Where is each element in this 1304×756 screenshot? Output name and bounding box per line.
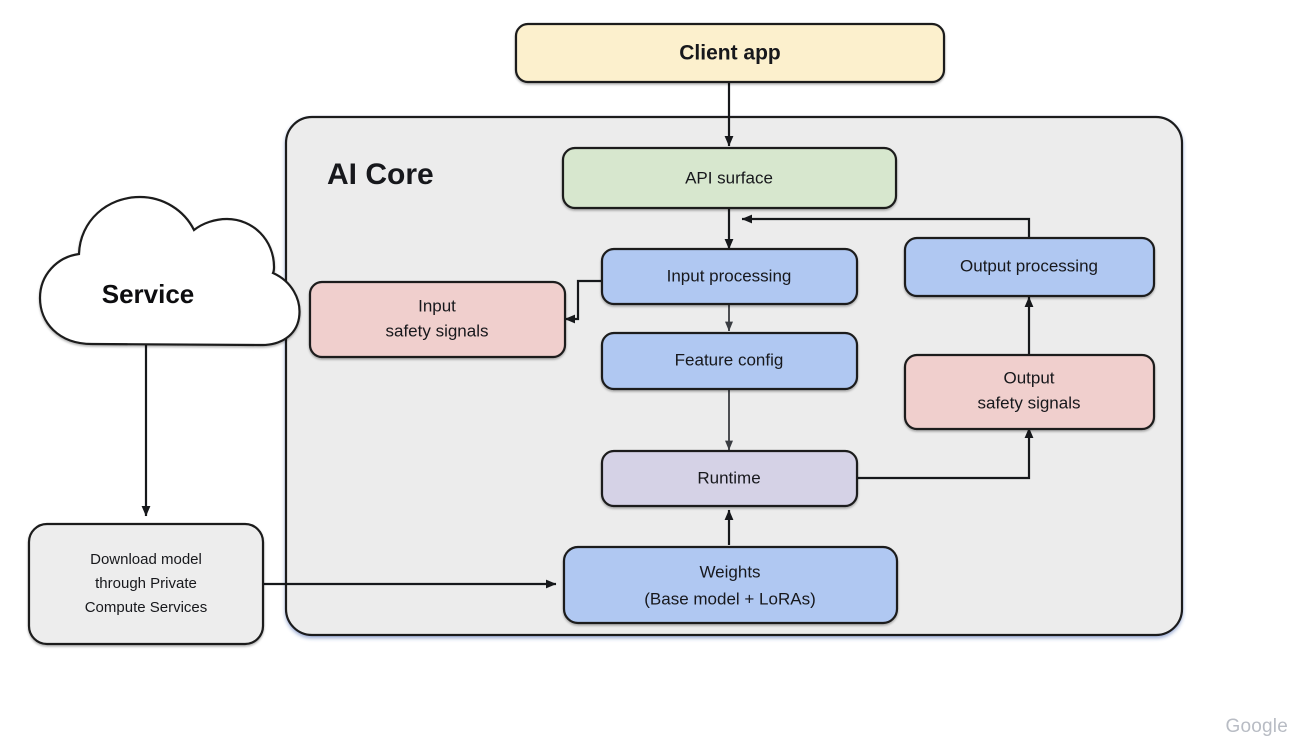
node-output-safety-signals[interactable]: Output safety signals — [905, 355, 1154, 429]
output-safety-signals-line-2: safety signals — [978, 393, 1081, 412]
node-runtime[interactable]: Runtime — [602, 451, 857, 506]
service-cloud-shape[interactable] — [40, 197, 299, 345]
input-safety-signals-line-1: Input — [418, 296, 456, 315]
weights-box[interactable] — [564, 547, 897, 623]
node-service-cloud[interactable]: Service — [40, 197, 299, 345]
output-safety-signals-box[interactable] — [905, 355, 1154, 429]
google-watermark: Google — [1226, 716, 1288, 737]
output-safety-signals-line-1: Output — [1003, 368, 1054, 387]
service-cloud-label: Service — [102, 279, 195, 309]
weights-line-2: (Base model + LoRAs) — [644, 589, 816, 608]
client-app-label: Client app — [679, 42, 781, 65]
download-model-line-1: Download model — [90, 551, 202, 568]
node-input-processing[interactable]: Input processing — [602, 249, 857, 304]
input-safety-signals-box[interactable] — [310, 282, 565, 357]
node-api-surface[interactable]: API surface — [563, 148, 896, 208]
output-processing-label: Output processing — [960, 256, 1098, 275]
input-safety-signals-line-2: safety signals — [386, 321, 489, 340]
diagram-root: AI Core — [0, 0, 1304, 756]
node-client-app[interactable]: Client app — [516, 24, 944, 82]
node-feature-config[interactable]: Feature config — [602, 333, 857, 389]
api-surface-label: API surface — [685, 168, 773, 187]
architecture-diagram: AI Core — [0, 0, 1304, 756]
download-model-line-2: through Private — [95, 575, 197, 592]
node-download-model[interactable]: Download model through Private Compute S… — [29, 524, 263, 644]
download-model-line-3: Compute Services — [85, 599, 208, 616]
feature-config-label: Feature config — [675, 350, 784, 369]
node-weights[interactable]: Weights (Base model + LoRAs) — [564, 547, 897, 623]
weights-line-1: Weights — [699, 562, 760, 581]
ai-core-title: AI Core — [327, 158, 434, 191]
runtime-label: Runtime — [697, 468, 760, 487]
node-input-safety-signals[interactable]: Input safety signals — [310, 282, 565, 357]
input-processing-label: Input processing — [667, 266, 792, 285]
node-output-processing[interactable]: Output processing — [905, 238, 1154, 296]
